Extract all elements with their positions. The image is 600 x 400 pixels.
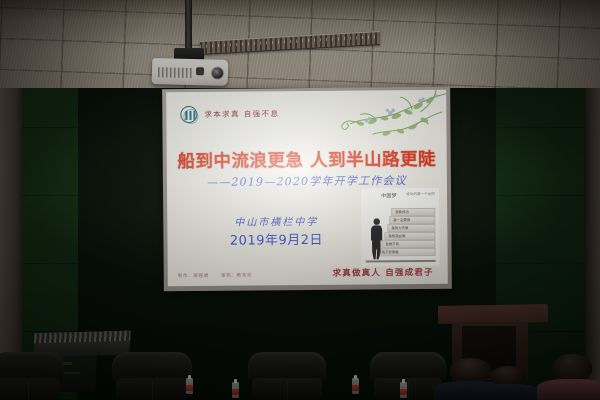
chair-seam [408, 380, 409, 400]
chair-seam [28, 380, 29, 400]
audience-person [552, 354, 592, 400]
projector-lens [211, 67, 224, 80]
stair-step: 我不愿意做 [378, 248, 436, 257]
slide-header: 求本求真 自强不息 [180, 105, 279, 123]
footer-left-credit: 制作：梁丽娟 [178, 274, 209, 279]
slide-date: 2019年9月2日 [191, 229, 361, 249]
projector-vent-grille [158, 67, 192, 78]
bottle-label [400, 389, 407, 395]
conference-room-photo: 求本求真 自强不息 船到中流浪更急 人到半山路更陡 ——2019—2020学年开… [0, 0, 600, 400]
audience-person [490, 366, 526, 400]
school-crest-logo [180, 106, 197, 123]
ceiling-projector [152, 58, 229, 86]
chair-seam [287, 380, 288, 400]
staircase-climb-diagram: 中国梦 成功的第一个台阶 我要成功 我一定要做 我努力去做 我想我会做 我做不到 [361, 188, 440, 267]
bottle-label [352, 385, 359, 391]
climbing-person-silhouette [370, 218, 383, 259]
projection-screen: 求本求真 自强不息 船到中流浪更急 人到半山路更陡 ——2019—2020学年开… [166, 90, 448, 286]
person-shoulders [476, 384, 539, 400]
floral-vine-decoration [316, 90, 447, 153]
bottle-cap [234, 379, 238, 383]
water-bottle [186, 378, 193, 394]
person-head [552, 354, 592, 382]
bottle-cap [354, 375, 358, 379]
footer-left-extra: 审核：教务处 [221, 273, 252, 278]
podium-top [438, 304, 548, 324]
bottle-body [232, 382, 239, 398]
diagram-brand-label: 中国梦 [381, 192, 397, 199]
diagram-top-note: 成功的第一个台阶 [406, 191, 435, 196]
slide-motto-top: 求本求真 自强不息 [204, 108, 279, 120]
projection-screen-frame: 求本求真 自强不息 船到中流浪更急 人到半山路更陡 ——2019—2020学年开… [162, 87, 452, 292]
slide-footer-left: 制作：梁丽娟 审核：教务处 [178, 272, 252, 279]
stair-step-label: 我不愿意做 [379, 249, 435, 256]
bottle-label [232, 389, 239, 395]
conference-chair [112, 344, 192, 400]
bottle-cap [402, 379, 406, 383]
bottle-body [400, 382, 407, 398]
bottle-label [186, 385, 193, 391]
bottle-body [352, 378, 359, 394]
slide-organization: 中山市横栏中学 [191, 213, 361, 229]
chair-seam [152, 380, 153, 400]
projector-mount-pole [185, 0, 192, 52]
bottle-body [186, 378, 193, 394]
person-head [490, 366, 526, 386]
water-bottle [400, 382, 407, 398]
bottle-cap [188, 375, 192, 379]
conference-chair [0, 348, 64, 400]
ceiling [0, 0, 600, 92]
person-shoulders [537, 379, 600, 400]
slide-footer-right: 求真做真人 自强成君子 [333, 266, 434, 279]
conference-chair [248, 344, 326, 400]
mixer-fader-panel [34, 331, 130, 344]
person-head [450, 358, 492, 383]
projector-control-knob [196, 67, 204, 75]
diagram-baseline [366, 260, 436, 262]
water-bottle [352, 378, 359, 394]
ceiling-shadow-right [370, 0, 600, 92]
water-bottle [232, 382, 239, 398]
slide-title: 船到中流浪更急 人到半山路更陡 [167, 146, 447, 173]
chair-seat [0, 378, 60, 400]
